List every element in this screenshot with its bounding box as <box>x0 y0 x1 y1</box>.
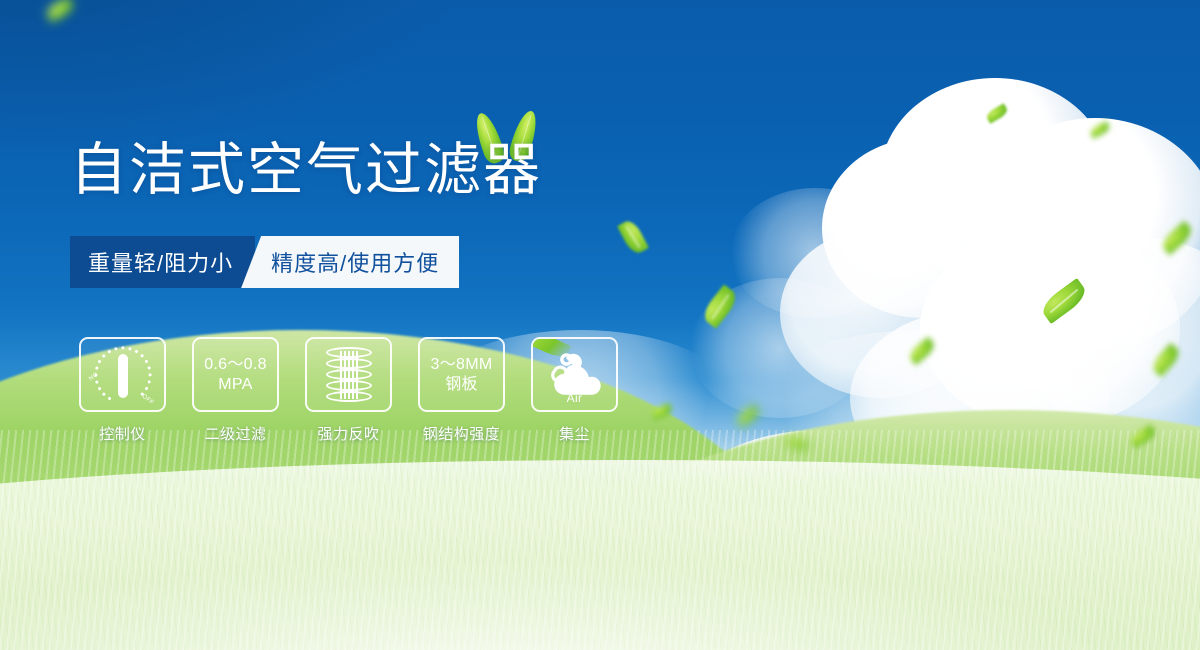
gauge-icon: NO OFF <box>90 346 156 404</box>
filter-coil-icon <box>326 347 372 403</box>
pressure-value-line: 0.6〜0.8 <box>204 355 267 375</box>
pressure-text-icon: 0.6〜0.8 MPA <box>204 355 267 394</box>
gauge-label-off: OFF <box>141 393 155 406</box>
feature-label: 集尘 <box>559 423 590 444</box>
air-cloud-icon: Air <box>540 347 610 403</box>
feature-item-dust-collection[interactable]: Air 集尘 <box>531 337 618 444</box>
hill-front <box>0 460 1200 650</box>
cloud-cluster-right <box>820 78 1200 498</box>
feature-item-reverse-blow[interactable]: 强力反吹 <box>305 337 392 444</box>
hill-right <box>560 410 1200 650</box>
feature-icon-box: Air <box>531 337 618 412</box>
feature-icon-box <box>305 337 392 412</box>
subtitle-right-tagline: 精度高/使用方便 <box>241 236 459 288</box>
pressure-unit-line: MPA <box>204 375 267 395</box>
feature-icon-box: 3〜8MM 钢板 <box>418 337 505 412</box>
feature-label: 控制仪 <box>99 423 146 444</box>
feature-label: 二级过滤 <box>204 423 266 444</box>
feature-label: 强力反吹 <box>317 423 379 444</box>
steel-material-line: 钢板 <box>431 375 493 395</box>
steel-plate-text-icon: 3〜8MM 钢板 <box>431 355 493 394</box>
feature-icon-box: 0.6〜0.8 MPA <box>192 337 279 412</box>
feature-icon-box: NO OFF <box>79 337 166 412</box>
product-hero-banner: 自洁式空气过滤器 重量轻/阻力小 精度高/使用方便 <box>0 0 1200 650</box>
steel-thickness-line: 3〜8MM <box>431 355 493 375</box>
page-title: 自洁式空气过滤器 <box>70 142 542 199</box>
subtitle-bar: 重量轻/阻力小 精度高/使用方便 <box>70 236 459 288</box>
gauge-needle <box>118 354 128 398</box>
feature-list: NO OFF 控制仪 0.6〜0.8 MPA 二级过滤 <box>79 337 618 444</box>
feature-item-steel-strength[interactable]: 3〜8MM 钢板 钢结构强度 <box>418 337 505 444</box>
feature-item-two-stage-filtration[interactable]: 0.6〜0.8 MPA 二级过滤 <box>192 337 279 444</box>
cloud-glyph <box>540 349 610 395</box>
grass-texture <box>0 430 1200 650</box>
feature-label: 钢结构强度 <box>423 423 501 444</box>
sky-background <box>0 0 1200 650</box>
grass-light-glow <box>0 460 1200 650</box>
air-label: Air <box>540 391 610 405</box>
feature-item-controller[interactable]: NO OFF 控制仪 <box>79 337 166 444</box>
subtitle-left-tagline: 重量轻/阻力小 <box>70 236 255 288</box>
